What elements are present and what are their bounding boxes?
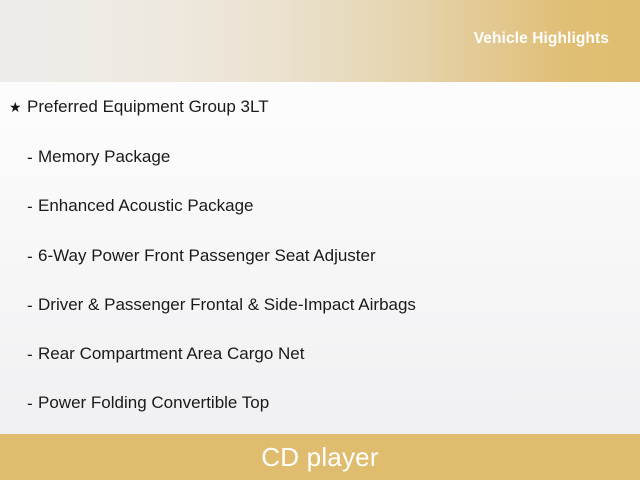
- feature-row: -Memory Package: [0, 146, 640, 168]
- feature-row: ★Preferred Equipment Group 3LT: [0, 96, 640, 118]
- feature-list: ★Preferred Equipment Group 3LT-Memory Pa…: [0, 82, 640, 434]
- star-bullet-icon: ★: [9, 100, 27, 114]
- dash-bullet-icon: -: [27, 198, 38, 215]
- feature-label: Memory Package: [38, 147, 170, 167]
- feature-label: Enhanced Acoustic Package: [38, 196, 253, 216]
- feature-row: -6-Way Power Front Passenger Seat Adjust…: [0, 245, 640, 267]
- feature-row: -Enhanced Acoustic Package: [0, 195, 640, 217]
- feature-label: Driver & Passenger Frontal & Side-Impact…: [38, 295, 416, 315]
- dash-bullet-icon: -: [27, 346, 38, 363]
- footer-banner: CD player: [0, 434, 640, 480]
- dash-bullet-icon: -: [27, 149, 38, 166]
- feature-label: Power Folding Convertible Top: [38, 393, 269, 413]
- feature-label: Rear Compartment Area Cargo Net: [38, 344, 304, 364]
- feature-label: 6-Way Power Front Passenger Seat Adjuste…: [38, 246, 376, 266]
- feature-row: -Power Folding Convertible Top: [0, 392, 640, 414]
- footer-caption: CD player: [261, 442, 378, 473]
- header-banner: Vehicle Highlights: [0, 0, 640, 82]
- dash-bullet-icon: -: [27, 248, 38, 265]
- dash-bullet-icon: -: [27, 395, 38, 412]
- dash-bullet-icon: -: [27, 297, 38, 314]
- page-title: Vehicle Highlights: [474, 30, 609, 48]
- feature-label: Preferred Equipment Group 3LT: [27, 97, 269, 117]
- feature-row: -Driver & Passenger Frontal & Side-Impac…: [0, 294, 640, 316]
- vehicle-highlights-slide: Vehicle Highlights ★Preferred Equipment …: [0, 0, 640, 480]
- feature-row: -Rear Compartment Area Cargo Net: [0, 343, 640, 365]
